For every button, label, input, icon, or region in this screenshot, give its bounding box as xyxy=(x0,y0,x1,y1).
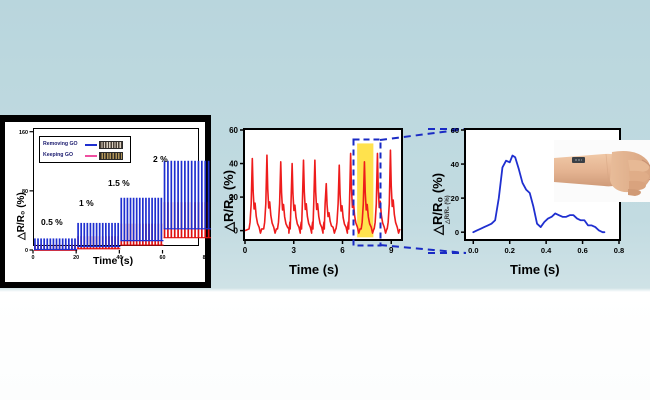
legend-sample-photo-removing-go xyxy=(99,141,123,149)
svg-text:0: 0 xyxy=(32,255,35,261)
svg-text:0.0: 0.0 xyxy=(468,246,478,255)
panel-b-x-axis-label: Time (s) xyxy=(289,262,339,277)
panel-c-single-pulse: △R/R₀ (%) △R/R₀ (%) Time (s) xyxy=(428,120,643,285)
panel-a-annotation-1: 1 % xyxy=(79,198,94,208)
legend-item-keeping-go: Keeping GO xyxy=(43,150,127,161)
panel-c-y-axis-label-secondary: △R/R₀ (%) xyxy=(444,195,451,224)
svg-text:20: 20 xyxy=(73,255,79,261)
panel-a-annotation-0: 0.5 % xyxy=(41,217,63,227)
panel-b-trace xyxy=(245,150,400,233)
svg-text:40: 40 xyxy=(229,160,238,169)
svg-text:20: 20 xyxy=(451,194,459,203)
svg-text:80: 80 xyxy=(22,189,28,195)
panel-c-plot-frame xyxy=(464,128,621,241)
svg-text:0.4: 0.4 xyxy=(541,246,552,255)
svg-text:80: 80 xyxy=(203,255,209,261)
panel-a-annotation-2: 1.5 % xyxy=(108,178,130,188)
panel-a-inner: △R/R₀ (%) Time (s) 08016002040 xyxy=(5,122,205,282)
legend-swatch-removing-go xyxy=(85,144,97,146)
panel-a-strain-steps: △R/R₀ (%) Time (s) 08016002040 xyxy=(0,115,211,288)
svg-text:0: 0 xyxy=(25,248,28,254)
legend-swatch-keeping-go xyxy=(85,155,97,157)
svg-text:6: 6 xyxy=(340,246,345,255)
legend-sample-photo-keeping-go xyxy=(99,152,123,160)
legend-item-removing-go: Removing GO xyxy=(43,139,127,150)
svg-text:40: 40 xyxy=(451,160,459,169)
hand-with-wrist-sensor-photo xyxy=(554,140,650,202)
svg-text:0: 0 xyxy=(455,228,459,237)
sensor-patch-icon xyxy=(572,157,585,163)
svg-text:60: 60 xyxy=(229,126,238,135)
svg-text:0.8: 0.8 xyxy=(614,246,624,255)
panel-b-plot-frame xyxy=(243,128,403,241)
legend-label-removing-go: Removing GO xyxy=(43,139,83,150)
panel-b-y-axis-label: △R/R₀ (%) xyxy=(221,170,237,232)
panel-b-plot-svg xyxy=(245,130,401,239)
svg-text:60: 60 xyxy=(160,255,166,261)
svg-text:9: 9 xyxy=(389,246,394,255)
svg-text:60: 60 xyxy=(451,126,459,135)
svg-text:0.2: 0.2 xyxy=(504,246,514,255)
hand-illustration xyxy=(554,140,650,202)
legend-label-keeping-go: Keeping GO xyxy=(43,150,83,161)
svg-text:3: 3 xyxy=(292,246,297,255)
figure-canvas: △R/R₀ (%) Time (s) 08016002040 xyxy=(0,0,650,400)
svg-text:0.6: 0.6 xyxy=(577,246,587,255)
svg-text:0: 0 xyxy=(243,246,248,255)
svg-text:160: 160 xyxy=(19,130,28,136)
panel-c-x-axis-label: Time (s) xyxy=(510,262,560,277)
svg-text:40: 40 xyxy=(116,255,122,261)
panel-b-pulse-train: △R/R₀ (%) Time (s) 02040600369 xyxy=(215,120,415,285)
panel-a-annotation-3: 2 % xyxy=(153,154,168,164)
panel-a-legend: Removing GO Keeping GO xyxy=(39,136,131,163)
